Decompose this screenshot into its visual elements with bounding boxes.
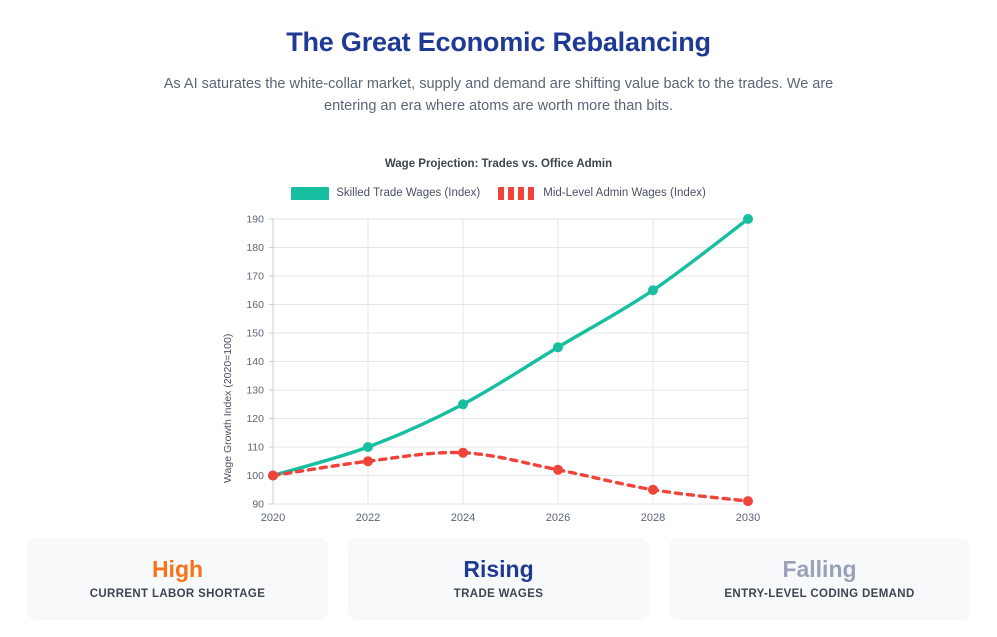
x-axis-tick-label: 2028 (641, 512, 665, 524)
legend-item-skilled-trade-wages[interactable]: Skilled Trade Wages (Index) (291, 187, 480, 200)
y-axis-tick-label: 140 (246, 356, 264, 368)
x-axis-tick-label: 2030 (736, 512, 760, 524)
data-point-marker[interactable] (743, 214, 753, 224)
wage-projection-chart: Wage Projection: Trades vs. Office Admin… (0, 148, 997, 523)
series-line-skilled-trade (273, 219, 748, 476)
stat-card-coding-demand[interactable]: Falling ENTRY-LEVEL CODING DEMAND (669, 538, 970, 620)
y-axis-tick-label: 190 (246, 214, 264, 226)
legend-label-mid-level-admin-wages: Mid-Level Admin Wages (Index) (543, 187, 706, 199)
stat-card-trade-wages[interactable]: Rising TRADE WAGES (348, 538, 649, 620)
x-axis-tick-label: 2024 (451, 512, 475, 524)
y-axis-tick-label: 160 (246, 299, 264, 311)
data-point-marker[interactable] (363, 456, 373, 466)
stat-card-labor-shortage[interactable]: High CURRENT LABOR SHORTAGE (27, 538, 328, 620)
chart-title: Wage Projection: Trades vs. Office Admin (0, 158, 997, 170)
data-point-marker[interactable] (648, 285, 658, 295)
y-axis-tick-label: 110 (247, 442, 264, 454)
legend-label-skilled-trade-wages: Skilled Trade Wages (Index) (336, 187, 480, 199)
x-axis-tick-label: 2020 (261, 512, 285, 524)
data-point-marker[interactable] (363, 442, 373, 452)
data-point-marker[interactable] (648, 485, 658, 495)
y-axis-tick-label: 150 (246, 328, 264, 340)
stat-card-label: TRADE WAGES (454, 588, 543, 600)
page-header: The Great Economic Rebalancing As AI sat… (0, 0, 997, 117)
y-axis-tick-label: 170 (246, 271, 264, 283)
page-title: The Great Economic Rebalancing (0, 26, 997, 60)
data-point-marker[interactable] (743, 496, 753, 506)
legend-swatch-solid-icon (291, 187, 329, 200)
data-point-marker[interactable] (553, 342, 563, 352)
plot-area: Wage Growth Index (2020=100) 90100110120… (0, 207, 997, 527)
series-line-mid-level-admin (273, 452, 748, 501)
data-point-marker[interactable] (553, 465, 563, 475)
data-point-marker[interactable] (458, 448, 468, 458)
legend-swatch-dashed-icon (498, 187, 536, 200)
y-axis-tick-label: 100 (246, 470, 264, 482)
y-axis-tick-label: 130 (246, 385, 264, 397)
legend-item-mid-level-admin-wages[interactable]: Mid-Level Admin Wages (Index) (498, 187, 706, 200)
y-axis-tick-label: 90 (252, 499, 264, 511)
data-point-marker[interactable] (458, 399, 468, 409)
chart-legend: Skilled Trade Wages (Index) Mid-Level Ad… (0, 185, 997, 201)
stat-card-value: Falling (782, 558, 856, 581)
y-axis-tick-label: 180 (246, 242, 264, 254)
stat-card-value: High (152, 558, 203, 581)
y-axis-tick-label: 120 (246, 413, 264, 425)
page-root: The Great Economic Rebalancing As AI sat… (0, 0, 997, 637)
stat-card-value: Rising (463, 558, 533, 581)
stat-card-label: CURRENT LABOR SHORTAGE (90, 588, 266, 600)
x-axis-tick-label: 2022 (356, 512, 380, 524)
x-axis-tick-label: 2026 (546, 512, 570, 524)
stat-cards: High CURRENT LABOR SHORTAGE Rising TRADE… (27, 538, 970, 620)
data-point-marker[interactable] (268, 471, 278, 481)
stat-card-label: ENTRY-LEVEL CODING DEMAND (724, 588, 914, 600)
page-subtitle: As AI saturates the white-collar market,… (159, 74, 839, 118)
chart-canvas: 9010011012013014015016017018019020202022… (0, 207, 997, 527)
